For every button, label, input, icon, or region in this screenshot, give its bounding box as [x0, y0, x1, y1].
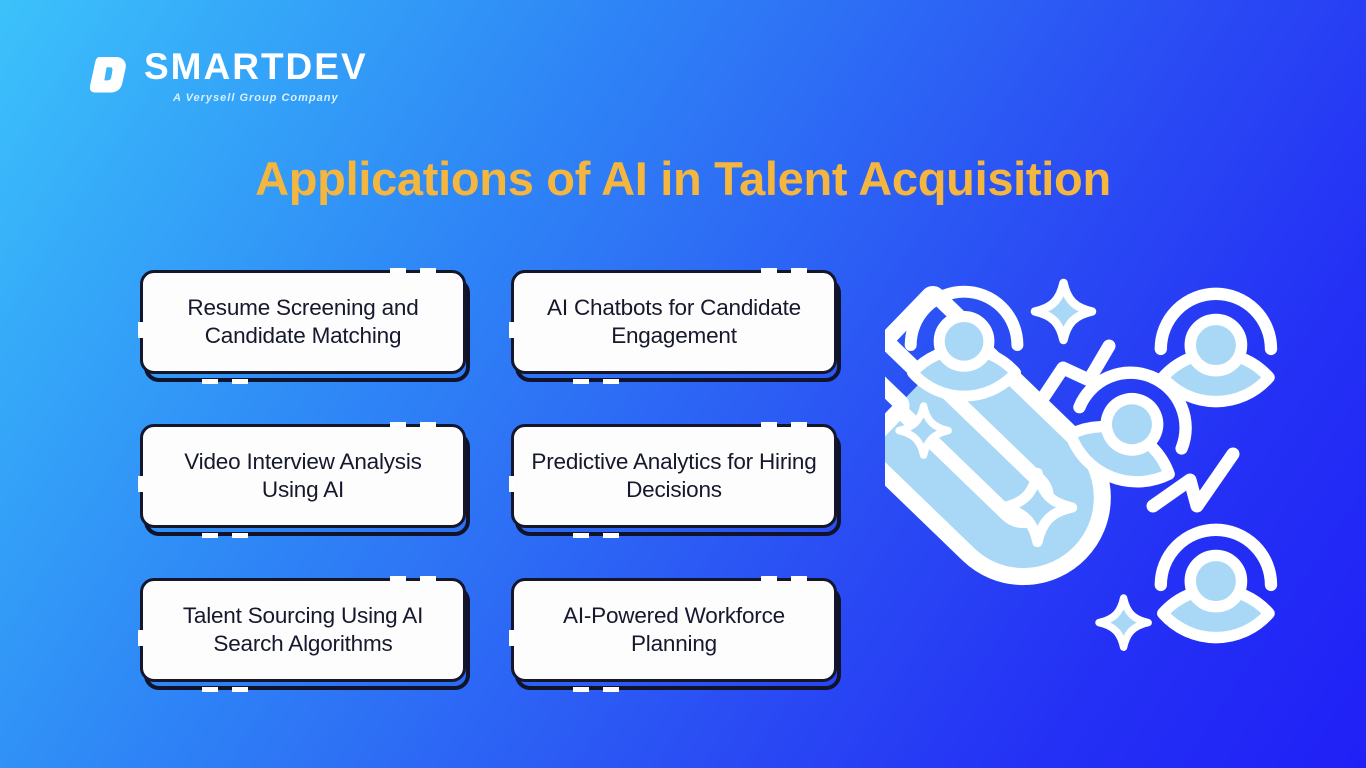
card-label: Resume Screening and Candidate Matching [155, 294, 451, 350]
card-notch-top-a [390, 422, 406, 427]
card-notch-left [509, 322, 514, 338]
card-notch-bottom-a [573, 687, 589, 692]
brand-text-block: SMARTDEV A Verysell Group Company [144, 48, 368, 104]
card-notch-bottom-a [202, 533, 218, 538]
application-card[interactable]: Predictive Analytics for Hiring Decision… [511, 424, 843, 536]
card-face: AI-Powered Workforce Planning [511, 578, 837, 682]
person-avatar-icon [911, 292, 1018, 396]
card-notch-left [138, 630, 143, 646]
card-notch-left [138, 476, 143, 492]
card-notch-bottom-b [232, 687, 248, 692]
brand-name: SMARTDEV [144, 48, 368, 85]
card-face: Video Interview Analysis Using AI [140, 424, 466, 528]
card-notch-bottom-a [573, 533, 589, 538]
card-label: AI Chatbots for Candidate Engagement [526, 294, 822, 350]
person-avatar-icon [1161, 294, 1271, 402]
brand-logo: SMARTDEV A Verysell Group Company [86, 48, 368, 104]
card-face: Resume Screening and Candidate Matching [140, 270, 466, 374]
card-notch-bottom-a [202, 379, 218, 384]
slide-canvas: SMARTDEV A Verysell Group Company Applic… [0, 0, 1366, 768]
card-notch-top-a [761, 268, 777, 273]
application-card[interactable]: Resume Screening and Candidate Matching [140, 270, 472, 382]
card-notch-bottom-b [603, 533, 619, 538]
card-face: AI Chatbots for Candidate Engagement [511, 270, 837, 374]
sparkle-icon [1035, 283, 1092, 340]
card-notch-left [509, 630, 514, 646]
card-face: Predictive Analytics for Hiring Decision… [511, 424, 837, 528]
applications-card-grid: Resume Screening and Candidate Matching … [140, 270, 850, 690]
card-notch-top-b [420, 268, 436, 273]
person-avatar-icon [1161, 530, 1271, 638]
card-notch-top-a [390, 268, 406, 273]
brand-tagline: A Verysell Group Company [144, 92, 368, 104]
smartdev-d-mark-icon [86, 52, 130, 96]
lightning-bolt-icon [1041, 346, 1109, 401]
card-notch-bottom-a [573, 379, 589, 384]
card-notch-top-b [420, 422, 436, 427]
card-notch-top-b [420, 576, 436, 581]
application-card[interactable]: Video Interview Analysis Using AI [140, 424, 472, 536]
card-notch-left [138, 322, 143, 338]
card-label: Talent Sourcing Using AI Search Algorith… [155, 602, 451, 658]
card-face: Talent Sourcing Using AI Search Algorith… [140, 578, 466, 682]
card-notch-bottom-a [202, 687, 218, 692]
card-notch-bottom-b [603, 379, 619, 384]
card-notch-bottom-b [603, 687, 619, 692]
magnet-attracting-candidates-illustration [885, 268, 1295, 680]
application-card[interactable]: Talent Sourcing Using AI Search Algorith… [140, 578, 472, 690]
page-title: Applications of AI in Talent Acquisition [0, 152, 1366, 206]
card-notch-top-b [791, 422, 807, 427]
card-notch-top-a [390, 576, 406, 581]
application-card[interactable]: AI-Powered Workforce Planning [511, 578, 843, 690]
card-notch-top-b [791, 576, 807, 581]
sparkle-icon [1099, 598, 1148, 647]
card-notch-bottom-b [232, 379, 248, 384]
card-label: AI-Powered Workforce Planning [526, 602, 822, 658]
card-notch-top-b [791, 268, 807, 273]
card-notch-bottom-b [232, 533, 248, 538]
card-notch-top-a [761, 422, 777, 427]
application-card[interactable]: AI Chatbots for Candidate Engagement [511, 270, 843, 382]
card-notch-left [509, 476, 514, 492]
card-label: Predictive Analytics for Hiring Decision… [526, 448, 822, 504]
card-notch-top-a [761, 576, 777, 581]
card-label: Video Interview Analysis Using AI [155, 448, 451, 504]
